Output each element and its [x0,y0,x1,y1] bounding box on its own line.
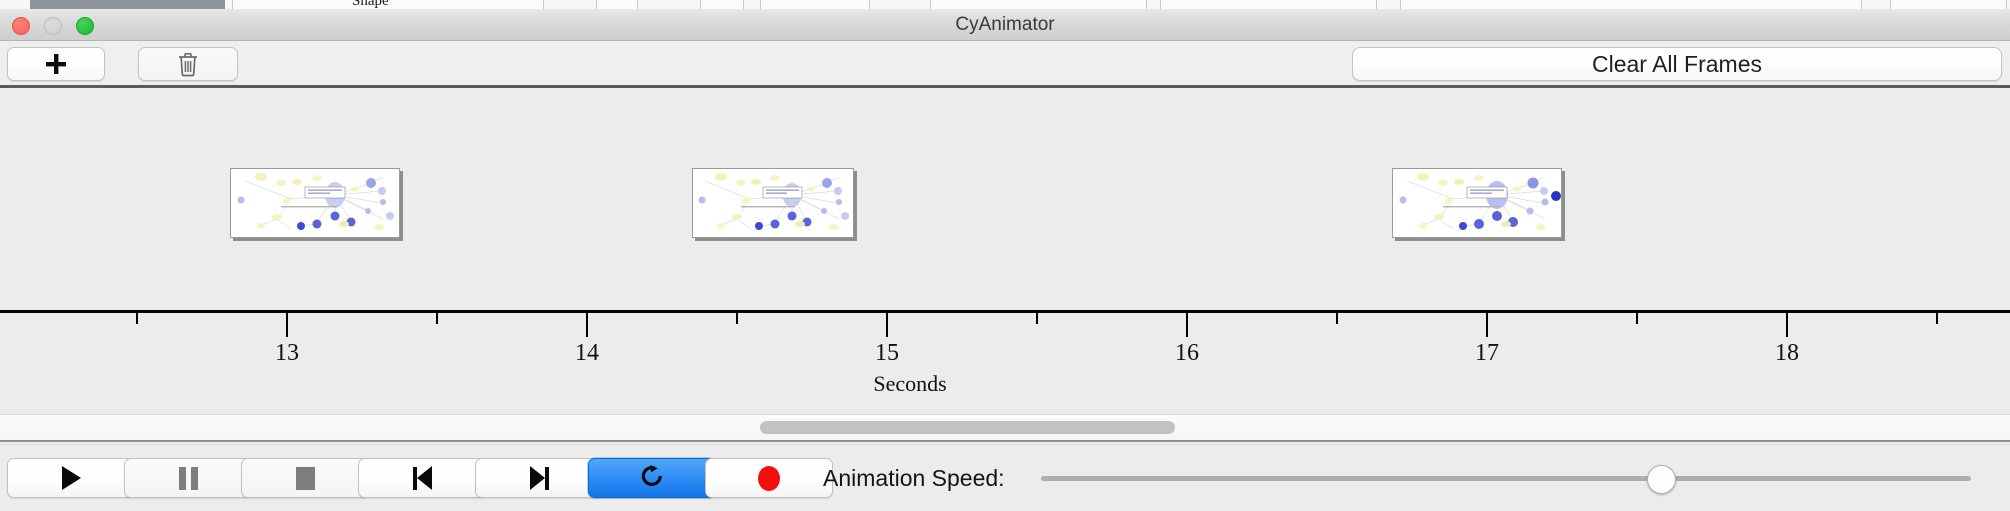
axis-tick-minor [436,313,438,324]
skip-previous-button[interactable] [358,458,486,498]
play-icon [62,466,81,490]
skip-next-button[interactable] [475,458,603,498]
title-bar: CyAnimator [0,9,2010,41]
keyframe-thumbnail[interactable] [692,168,854,238]
axis-tick-label: 15 [875,340,899,367]
window-title: CyAnimator [0,9,2010,40]
bg-tab-8 [1890,0,2007,9]
bg-tab-5 [930,0,1147,9]
timeline-axis-line [0,310,2010,313]
axis-tick-major [586,313,588,337]
add-frame-button[interactable] [7,47,105,81]
keyframe-thumbnail[interactable] [230,168,400,238]
animation-speed-label: Animation Speed: [823,458,1005,498]
play-button[interactable] [7,458,135,498]
axis-tick-minor [1936,313,1938,324]
bg-tab-active [30,0,225,9]
clear-all-frames-button[interactable]: Clear All Frames [1352,47,2002,81]
cyanimator-window: Shape CyAnimator [0,0,2010,510]
record-icon [758,466,780,491]
background-app-chrome: Shape [0,0,2010,9]
stop-icon [296,467,315,490]
stop-button[interactable] [241,458,369,498]
plus-icon [44,52,68,76]
timeline-canvas[interactable]: 2 13 14 15 16 17 18 Seconds [0,88,2010,414]
axis-tick-minor [136,313,138,324]
playback-control-bar: Animation Speed: [0,444,2010,511]
axis-tick-major [1486,313,1488,337]
bg-tab-7 [1400,0,1862,9]
axis-tick-minor [1336,313,1338,324]
skip-previous-icon [413,466,432,490]
skip-next-icon [530,466,549,490]
pause-button[interactable] [124,458,252,498]
axis-tick-label: 16 [1175,340,1199,367]
axis-tick-major [886,313,888,337]
timeline-horizontal-scrollbar[interactable] [0,414,2010,442]
record-button[interactable] [705,458,833,498]
slider-thumb[interactable] [1647,465,1676,494]
axis-tick-major [286,313,288,337]
scrollbar-thumb[interactable] [760,421,1175,434]
bg-tab-4 [760,0,870,9]
pause-icon [179,467,198,490]
slider-track[interactable] [1041,476,1971,481]
axis-tick-label: 14 [575,340,599,367]
background-app-label: Shape [352,0,389,9]
delete-frame-button[interactable] [138,47,238,81]
keyframe-thumbnail[interactable] [1392,168,1562,238]
axis-tick-minor [736,313,738,324]
trash-icon [177,52,199,77]
bg-tab-3 [700,0,744,9]
axis-tick-label: 13 [275,340,299,367]
axis-tick-minor [1036,313,1038,324]
loop-icon [638,462,666,495]
axis-tick-major [1186,313,1188,337]
loop-button[interactable] [588,458,716,498]
axis-tick-minor [1636,313,1638,324]
clear-all-frames-label: Clear All Frames [1592,51,1762,78]
bg-tab-6 [1160,0,1377,9]
axis-tick-label: 18 [1775,340,1799,367]
axis-tick-label: 17 [1475,340,1499,367]
animation-speed-slider[interactable] [1041,458,1971,498]
axis-title: Seconds [873,371,946,397]
axis-tick-major [1786,313,1788,337]
bg-tab-2 [596,0,638,9]
frames-toolbar: Clear All Frames [0,41,2010,86]
